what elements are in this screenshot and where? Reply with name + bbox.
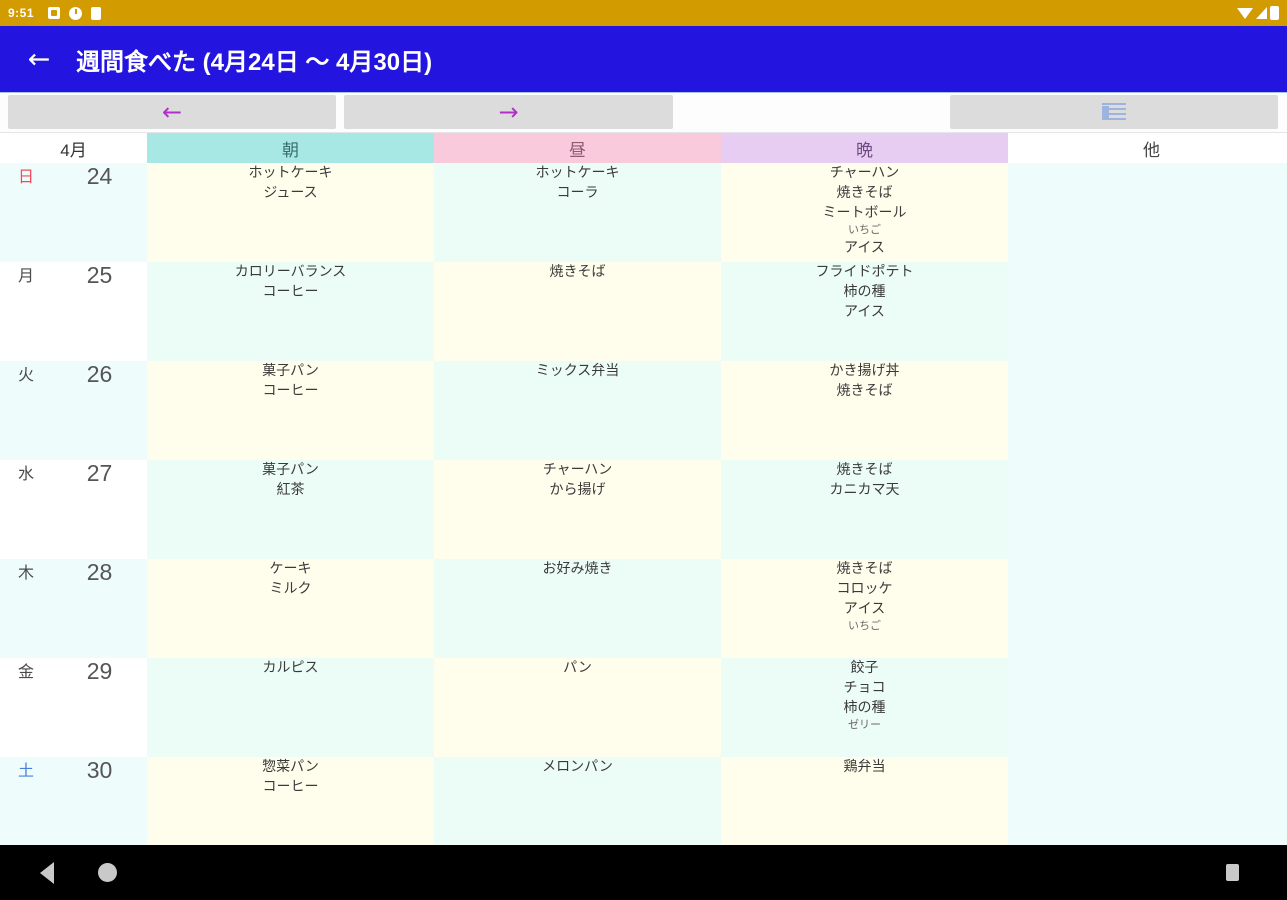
meal-item: いちご [721,223,1008,239]
list-view-icon [1102,103,1126,122]
battery-saver-icon [91,7,101,20]
cell-noon[interactable]: ホットケーキコーラ [434,163,721,262]
meal-item: ジュース [147,183,434,203]
cell-other[interactable] [1008,559,1287,658]
header-other: 他 [1008,133,1287,163]
meal-item: メロンパン [434,757,721,777]
meal-item: 菓子パン [147,361,434,381]
meal-item: 鶏弁当 [721,757,1008,777]
cell-morning[interactable]: 菓子パンコーヒー [147,361,434,460]
cell-day-of-week: 木 [0,559,52,658]
cell-day-number: 30 [52,757,147,845]
cell-day-number: 26 [52,361,147,460]
status-clock: 9:51 [8,6,34,20]
battery-icon [1270,6,1279,20]
next-week-button[interactable]: → [344,95,673,129]
nav-home-icon[interactable] [98,863,117,882]
meal-item: ミルク [147,579,434,599]
table-row[interactable]: 金29カルピスパン餃子チョコ柿の種ゼリー [0,658,1287,757]
cell-morning[interactable]: ケーキミルク [147,559,434,658]
meal-item: 柿の種 [721,698,1008,718]
meal-item: 焼きそば [721,559,1008,579]
toolbar: ← → [0,93,1287,133]
cell-other[interactable] [1008,460,1287,559]
nav-recent-apps-icon[interactable] [1226,864,1239,881]
header-morning: 朝 [147,133,434,163]
cellular-signal-icon [1256,7,1267,19]
cell-noon[interactable]: 焼きそば [434,262,721,361]
meal-item: 惣菜パン [147,757,434,777]
meal-item: 餃子 [721,658,1008,678]
meal-item: アイス [721,302,1008,322]
weekly-meal-table: 4月 朝 昼 晩 他 日24ホットケーキジュースホットケーキコーラチャーハン焼き… [0,133,1287,845]
meal-item: コーヒー [147,381,434,401]
cell-evening[interactable]: フライドポテト柿の種アイス [721,262,1008,361]
cell-day-of-week: 火 [0,361,52,460]
cell-morning[interactable]: 菓子パン紅茶 [147,460,434,559]
cell-day-number: 25 [52,262,147,361]
header-month: 4月 [0,133,147,163]
cell-noon[interactable]: メロンパン [434,757,721,845]
meal-item: ミックス弁当 [434,361,721,381]
page-title: 週間食べた (4月24日 ～ 4月30日) [76,42,432,77]
cell-day-of-week: 月 [0,262,52,361]
cell-day-of-week: 金 [0,658,52,757]
sd-card-icon [48,7,60,19]
meal-item: 焼きそば [721,381,1008,401]
cell-day-of-week: 水 [0,460,52,559]
cell-morning[interactable]: 惣菜パンコーヒー [147,757,434,845]
cell-evening[interactable]: かき揚げ丼焼きそば [721,361,1008,460]
cell-day-number: 28 [52,559,147,658]
cell-morning[interactable]: カルピス [147,658,434,757]
meal-item: チャーハン [721,163,1008,183]
cell-other[interactable] [1008,262,1287,361]
status-left-icons [48,7,101,20]
cell-other[interactable] [1008,163,1287,262]
cell-evening[interactable]: 鶏弁当 [721,757,1008,845]
meal-item: ミートボール [721,203,1008,223]
cell-evening[interactable]: 餃子チョコ柿の種ゼリー [721,658,1008,757]
header-noon: 昼 [434,133,721,163]
table-row[interactable]: 木28ケーキミルクお好み焼き焼きそばコロッケアイスいちご [0,559,1287,658]
cell-day-of-week: 日 [0,163,52,262]
meal-item: いちご [721,619,1008,635]
meal-item: アイス [721,238,1008,258]
meal-item: 紅茶 [147,480,434,500]
meal-item: かき揚げ丼 [721,361,1008,381]
cell-evening[interactable]: チャーハン焼きそばミートボールいちごアイス [721,163,1008,262]
meal-item: パン [434,658,721,678]
meal-item: コーヒー [147,282,434,302]
meal-item: アイス [721,599,1008,619]
arrow-right-icon: → [498,100,518,124]
cell-day-of-week: 土 [0,757,52,845]
cell-day-number: 29 [52,658,147,757]
meal-item: コロッケ [721,579,1008,599]
cell-noon[interactable]: お好み焼き [434,559,721,658]
table-header-row: 4月 朝 昼 晩 他 [0,133,1287,163]
back-arrow-icon[interactable]: ← [22,46,56,73]
meal-item: 焼きそば [721,460,1008,480]
meal-item: カニカマ天 [721,480,1008,500]
cell-other[interactable] [1008,757,1287,845]
nav-back-icon[interactable] [40,862,54,884]
cell-noon[interactable]: ミックス弁当 [434,361,721,460]
cell-morning[interactable]: カロリーバランスコーヒー [147,262,434,361]
meal-item: コーラ [434,183,721,203]
meal-item: 焼きそば [434,262,721,282]
table-body: 日24ホットケーキジュースホットケーキコーラチャーハン焼きそばミートボールいちご… [0,163,1287,845]
cell-noon[interactable]: パン [434,658,721,757]
cell-day-number: 24 [52,163,147,262]
arrow-left-icon: ← [162,100,182,124]
meal-item: ケーキ [147,559,434,579]
table-header: 4月 朝 昼 晩 他 [0,133,1287,163]
meal-item: ホットケーキ [147,163,434,183]
wifi-icon [1237,8,1253,19]
meal-item: 柿の種 [721,282,1008,302]
meal-item: カロリーバランス [147,262,434,282]
meal-item: チョコ [721,678,1008,698]
clock-icon [69,7,82,20]
meal-item: ゼリー [721,718,1008,734]
app-screen: 9:51 ← 週間食べた (4月24日 ～ 4月30日) ← → [0,0,1287,900]
meal-item: チャーハン [434,460,721,480]
list-view-button[interactable] [950,95,1278,129]
cell-noon[interactable]: チャーハンから揚げ [434,460,721,559]
meal-item: フライドポテト [721,262,1008,282]
cell-other[interactable] [1008,658,1287,757]
meal-item: ホットケーキ [434,163,721,183]
table-row[interactable]: 水27菓子パン紅茶チャーハンから揚げ焼きそばカニカマ天 [0,460,1287,559]
table-row[interactable]: 火26菓子パンコーヒーミックス弁当かき揚げ丼焼きそば [0,361,1287,460]
cell-morning[interactable]: ホットケーキジュース [147,163,434,262]
previous-week-button[interactable]: ← [8,95,336,129]
meal-item: から揚げ [434,480,721,500]
system-navigation-bar [0,845,1287,900]
cell-evening[interactable]: 焼きそばカニカマ天 [721,460,1008,559]
table-row[interactable]: 土30惣菜パンコーヒーメロンパン鶏弁当 [0,757,1287,845]
app-bar: ← 週間食べた (4月24日 ～ 4月30日) [0,26,1287,93]
meal-item: 菓子パン [147,460,434,480]
weekly-meal-table-wrapper: 4月 朝 昼 晩 他 日24ホットケーキジュースホットケーキコーラチャーハン焼き… [0,133,1287,845]
meal-item: カルピス [147,658,434,678]
meal-item: 焼きそば [721,183,1008,203]
cell-other[interactable] [1008,361,1287,460]
table-row[interactable]: 月25カロリーバランスコーヒー焼きそばフライドポテト柿の種アイス [0,262,1287,361]
cell-day-number: 27 [52,460,147,559]
header-evening: 晩 [721,133,1008,163]
status-right-icons [1237,6,1279,20]
table-row[interactable]: 日24ホットケーキジュースホットケーキコーラチャーハン焼きそばミートボールいちご… [0,163,1287,262]
meal-item: コーヒー [147,777,434,797]
cell-evening[interactable]: 焼きそばコロッケアイスいちご [721,559,1008,658]
meal-item: お好み焼き [434,559,721,579]
status-bar: 9:51 [0,0,1287,26]
